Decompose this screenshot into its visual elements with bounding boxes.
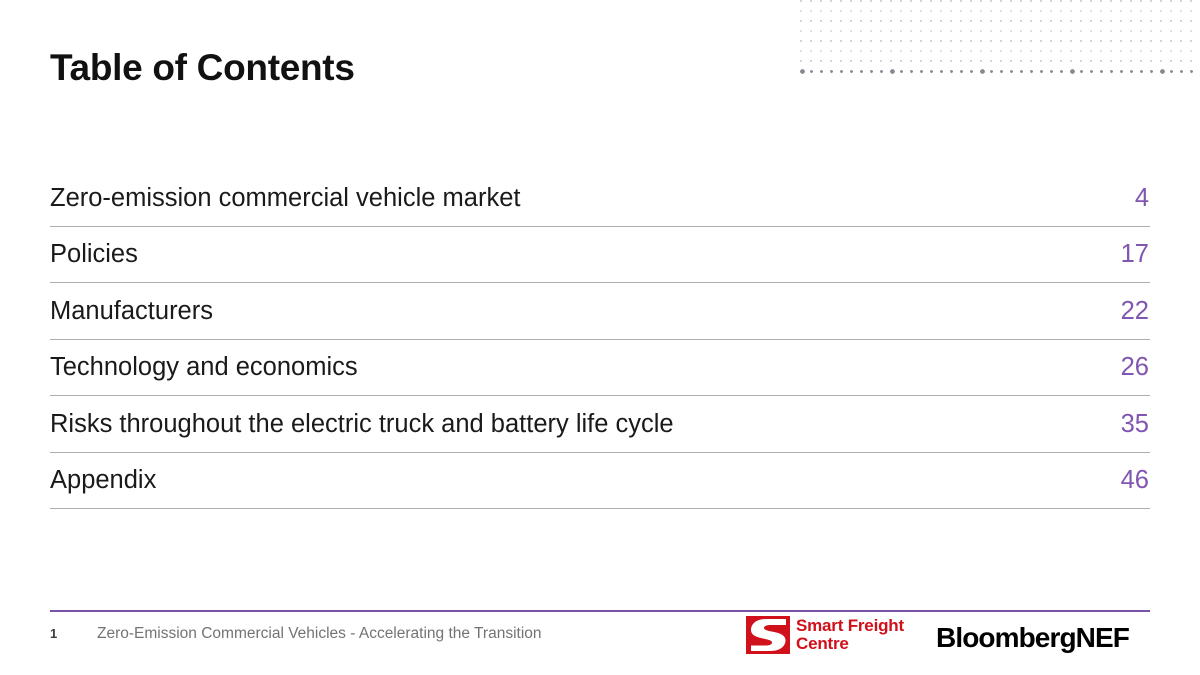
toc-entry-page: 35 [1121,409,1150,439]
dot-grid-row [800,10,1200,12]
dot-grid-row [800,50,1200,52]
footer-page-number: 1 [50,626,57,641]
sfc-wordmark-line2: Centre [796,635,904,654]
smart-freight-centre-logo: Smart Freight Centre [746,616,904,654]
footer: 1 Zero-Emission Commercial Vehicles - Ac… [50,620,1150,666]
toc-entry[interactable]: Policies 17 [50,227,1150,284]
toc-entry-label: Policies [50,239,138,269]
dot-grid-row [800,30,1200,32]
toc-entry-label: Appendix [50,465,156,495]
table-of-contents: Zero-emission commercial vehicle market … [50,170,1150,509]
toc-entry-page: 46 [1121,465,1150,495]
dot-grid-decoration [800,0,1200,76]
page-title: Table of Contents [50,46,355,90]
toc-entry[interactable]: Appendix 46 [50,453,1150,510]
toc-entry-page: 22 [1121,296,1150,326]
smart-freight-centre-mark-icon [746,616,790,654]
toc-entry-label: Zero-emission commercial vehicle market [50,183,520,213]
bloombergnef-logo: BloombergNEF [936,622,1129,654]
smart-freight-centre-wordmark: Smart Freight Centre [796,617,904,654]
sfc-wordmark-line1: Smart Freight [796,617,904,636]
toc-entry-label: Manufacturers [50,296,213,326]
dot-grid-row [800,60,1200,62]
footer-document-title: Zero-Emission Commercial Vehicles - Acce… [97,625,542,643]
toc-entry[interactable]: Zero-emission commercial vehicle market … [50,170,1150,227]
dot-grid-accent-dots [800,69,1200,74]
toc-entry[interactable]: Manufacturers 22 [50,283,1150,340]
dot-grid-row [800,40,1200,42]
toc-entry-label: Technology and economics [50,352,358,382]
dot-grid-row [800,0,1200,2]
toc-entry-page: 4 [1135,183,1150,213]
footer-divider [50,610,1150,612]
toc-entry-page: 17 [1121,239,1150,269]
toc-entry[interactable]: Technology and economics 26 [50,340,1150,397]
toc-entry-label: Risks throughout the electric truck and … [50,409,674,439]
toc-entry[interactable]: Risks throughout the electric truck and … [50,396,1150,453]
dot-grid-row [800,20,1200,22]
toc-entry-page: 26 [1121,352,1150,382]
